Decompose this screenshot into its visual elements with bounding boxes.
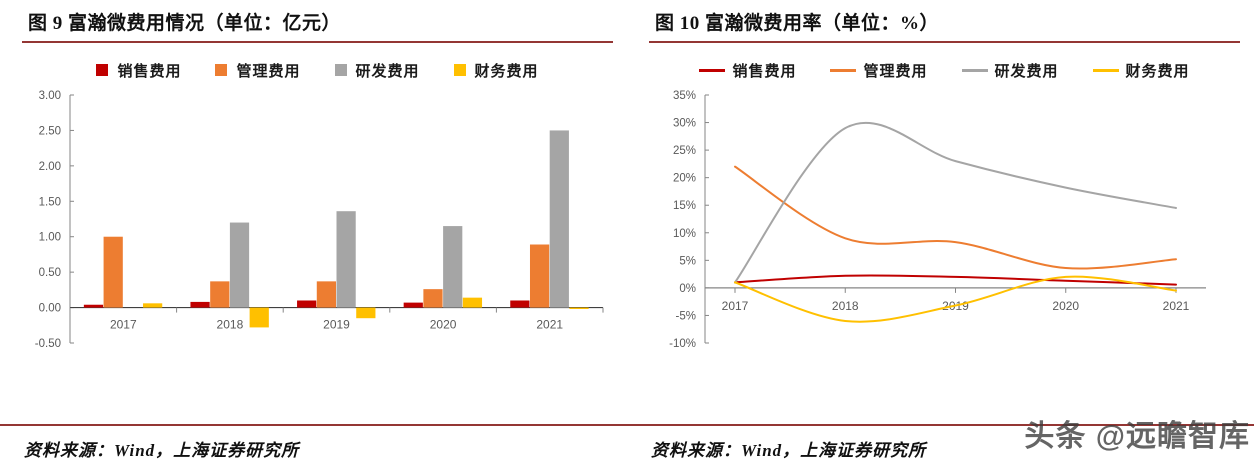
bar-y-tick-label: 1.00 xyxy=(39,232,61,244)
figure-10-title: 图 10 富瀚微费用率（单位：%） xyxy=(649,0,1240,35)
bar-rect xyxy=(230,223,249,308)
legend-item-admin-line: 管理费用 xyxy=(830,60,927,81)
legend-label-sales: 销售费用 xyxy=(117,60,181,81)
bar-rect xyxy=(190,302,209,308)
figure-10-panel: 图 10 富瀚微费用率（单位：%） 销售费用 管理费用 研发费用 财务费用 35… xyxy=(627,0,1254,461)
line-y-tick-label: 15% xyxy=(673,200,696,212)
bar-y-tick-label: 0.50 xyxy=(39,267,61,279)
line-x-tick-label: 2017 xyxy=(722,299,749,313)
line-y-tick-label: -5% xyxy=(676,310,696,322)
legend-label-admin: 管理费用 xyxy=(236,60,300,81)
bar-rect xyxy=(569,308,588,309)
bar-y-tick-label: 2.50 xyxy=(39,125,61,137)
bar-y-tick-label: 2.00 xyxy=(39,161,61,173)
bar-y-tick-label: 1.50 xyxy=(39,196,61,208)
figure-10-source-block: 资料来源：Wind，上海证券研究所 xyxy=(627,424,1254,461)
figure-10-title-rule xyxy=(649,41,1240,43)
figure-9-title-rule xyxy=(22,41,613,43)
figure-10-plot-area: 35%30%25%20%15%10%5%0%-5%-10%20172018201… xyxy=(649,89,1240,389)
line-series-path xyxy=(735,167,1176,269)
legend-swatch-rnd-icon xyxy=(335,64,347,76)
legend-line-finance-icon xyxy=(1093,69,1119,72)
bar-rect xyxy=(104,237,123,308)
legend-swatch-finance-icon xyxy=(454,64,466,76)
bar-rect xyxy=(210,281,229,307)
legend-item-sales: 销售费用 xyxy=(96,60,181,81)
bar-y-tick-label: -0.50 xyxy=(35,338,61,350)
figure-pair-page: 图 9 富瀚微费用情况（单位：亿元） 销售费用 管理费用 研发费用 财务费用 3… xyxy=(0,0,1254,461)
legend-swatch-admin-icon xyxy=(215,64,227,76)
legend-item-finance-line: 财务费用 xyxy=(1093,60,1190,81)
figure-10-source-text: 资料来源：Wind，上海证券研究所 xyxy=(627,426,1254,461)
bar-rect xyxy=(297,300,316,307)
figure-9-legend: 销售费用 管理费用 研发费用 财务费用 xyxy=(22,59,613,81)
bar-chart-svg: 3.002.502.001.501.000.500.00-0.502017201… xyxy=(22,89,613,389)
bar-rect xyxy=(404,303,423,308)
bar-x-tick-label: 2021 xyxy=(536,318,563,332)
bar-rect xyxy=(250,308,269,328)
figure-9-title: 图 9 富瀚微费用情况（单位：亿元） xyxy=(22,0,613,35)
bar-y-tick-label: 0.00 xyxy=(39,303,61,315)
legend-item-admin: 管理费用 xyxy=(215,60,300,81)
legend-swatch-sales-icon xyxy=(96,64,108,76)
legend-label-finance-line: 财务费用 xyxy=(1126,60,1190,81)
bar-x-tick-label: 2020 xyxy=(430,318,457,332)
line-y-tick-label: 30% xyxy=(673,118,696,130)
legend-item-rnd: 研发费用 xyxy=(335,60,420,81)
bar-rect xyxy=(356,308,375,319)
legend-label-rnd: 研发费用 xyxy=(356,60,420,81)
legend-line-rnd-icon xyxy=(962,69,988,72)
line-x-tick-label: 2018 xyxy=(832,299,859,313)
line-chart-svg: 35%30%25%20%15%10%5%0%-5%-10%20172018201… xyxy=(649,89,1240,389)
legend-item-sales-line: 销售费用 xyxy=(699,60,796,81)
figure-9-source-text: 资料来源：Wind，上海证券研究所 xyxy=(0,426,627,461)
bar-x-tick-label: 2019 xyxy=(323,318,350,332)
bar-rect xyxy=(143,303,162,307)
line-y-tick-label: 35% xyxy=(673,90,696,102)
bar-rect xyxy=(84,305,103,308)
legend-line-sales-icon xyxy=(699,69,725,72)
legend-label-rnd-line: 研发费用 xyxy=(995,60,1059,81)
legend-label-admin-line: 管理费用 xyxy=(863,60,927,81)
figure-9-source-block: 资料来源：Wind，上海证券研究所 xyxy=(0,424,627,461)
bar-rect xyxy=(510,300,529,307)
legend-label-finance: 财务费用 xyxy=(475,60,539,81)
line-y-tick-label: 25% xyxy=(673,145,696,157)
bar-rect xyxy=(550,130,569,307)
line-y-tick-label: 10% xyxy=(673,228,696,240)
legend-label-sales-line: 销售费用 xyxy=(732,60,796,81)
legend-line-admin-icon xyxy=(830,69,856,72)
bar-rect xyxy=(337,211,356,307)
figure-10-legend: 销售费用 管理费用 研发费用 财务费用 xyxy=(649,59,1240,81)
line-series-path xyxy=(735,123,1176,283)
legend-item-rnd-line: 研发费用 xyxy=(962,60,1059,81)
line-y-tick-label: 5% xyxy=(679,255,696,267)
bar-x-tick-label: 2018 xyxy=(217,318,244,332)
figure-9-plot-area: 3.002.502.001.501.000.500.00-0.502017201… xyxy=(22,89,613,389)
bar-rect xyxy=(317,281,336,307)
bar-y-tick-label: 3.00 xyxy=(39,90,61,102)
bar-rect xyxy=(530,245,549,308)
bar-rect xyxy=(463,298,482,308)
bar-rect xyxy=(443,226,462,307)
figure-9-panel: 图 9 富瀚微费用情况（单位：亿元） 销售费用 管理费用 研发费用 财务费用 3… xyxy=(0,0,627,461)
line-x-tick-label: 2021 xyxy=(1163,299,1190,313)
bar-x-tick-label: 2017 xyxy=(110,318,137,332)
line-y-tick-label: 0% xyxy=(679,283,696,295)
line-y-tick-label: 20% xyxy=(673,173,696,185)
legend-item-finance: 财务费用 xyxy=(454,60,539,81)
line-y-tick-label: -10% xyxy=(669,338,696,350)
line-x-tick-label: 2020 xyxy=(1052,299,1079,313)
bar-rect xyxy=(423,289,442,307)
